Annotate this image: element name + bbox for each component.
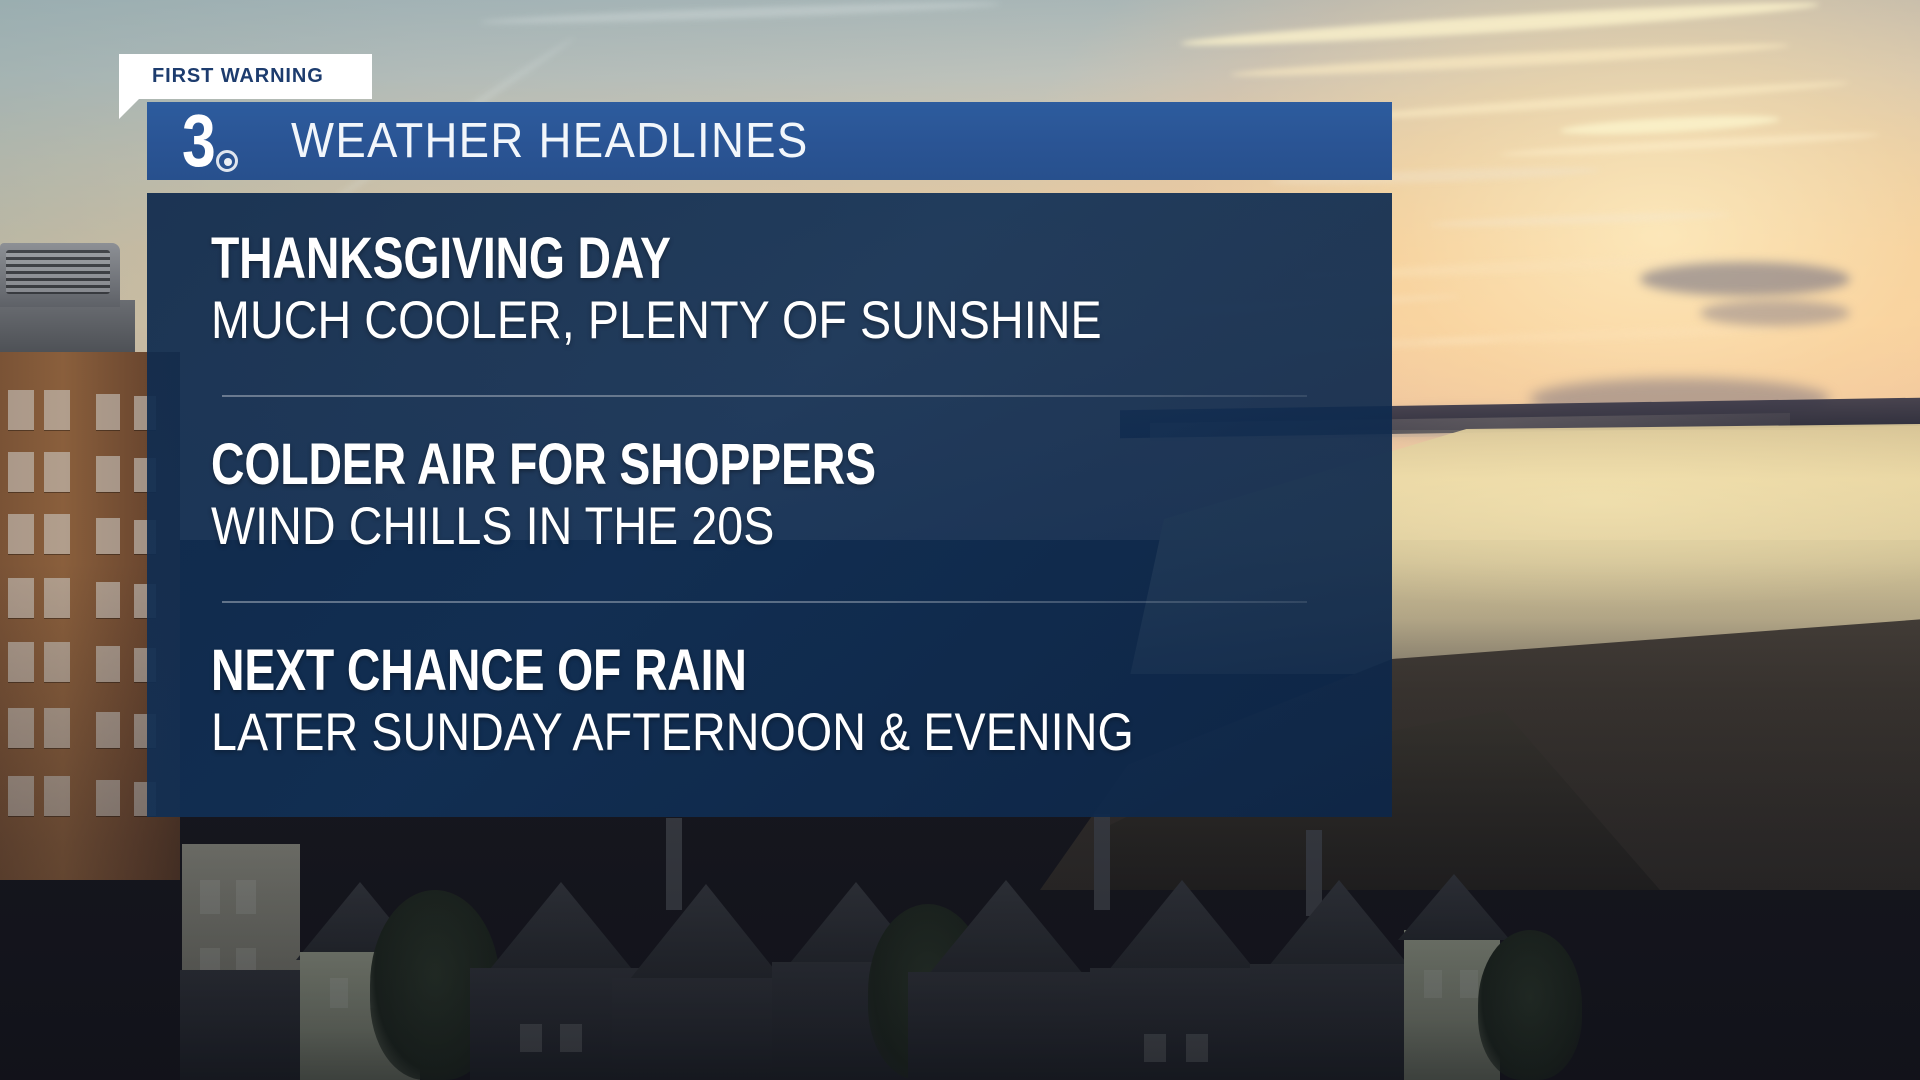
headline-item-3: NEXT CHANCE OF RAIN LATER SUNDAY AFTERNO… (211, 641, 1456, 761)
graphic-header-bar: 3 WEATHER HEADLINES (147, 102, 1392, 180)
headline-title-1: THANKSGIVING DAY (211, 229, 1207, 288)
headlines-panel: THANKSGIVING DAY MUCH COOLER, PLENTY OF … (147, 193, 1392, 817)
first-warning-tag-tail (119, 99, 139, 119)
headline-subtitle-1: MUCH COOLER, PLENTY OF SUNSHINE (211, 293, 1307, 349)
station-3-logo: 3 (182, 110, 248, 172)
logo-circle-icon (216, 150, 238, 172)
headline-divider-2 (222, 601, 1307, 603)
weather-headlines-graphic: FIRST WARNING 3 WEATHER HEADLINES THANKS… (0, 0, 1920, 1080)
headline-item-1: THANKSGIVING DAY MUCH COOLER, PLENTY OF … (211, 229, 1456, 349)
headline-subtitle-3: LATER SUNDAY AFTERNOON & EVENING (211, 705, 1307, 761)
headline-title-2: COLDER AIR FOR SHOPPERS (211, 435, 1207, 494)
first-warning-label: FIRST WARNING (152, 65, 324, 88)
first-warning-tag: FIRST WARNING (119, 54, 372, 99)
graphic-title: WEATHER HEADLINES (291, 113, 809, 169)
headline-divider-1 (222, 395, 1307, 397)
headline-subtitle-2: WIND CHILLS IN THE 20S (211, 499, 1307, 555)
station-number-text: 3 (182, 104, 216, 178)
headline-item-2: COLDER AIR FOR SHOPPERS WIND CHILLS IN T… (211, 435, 1456, 555)
headline-title-3: NEXT CHANCE OF RAIN (211, 641, 1207, 700)
